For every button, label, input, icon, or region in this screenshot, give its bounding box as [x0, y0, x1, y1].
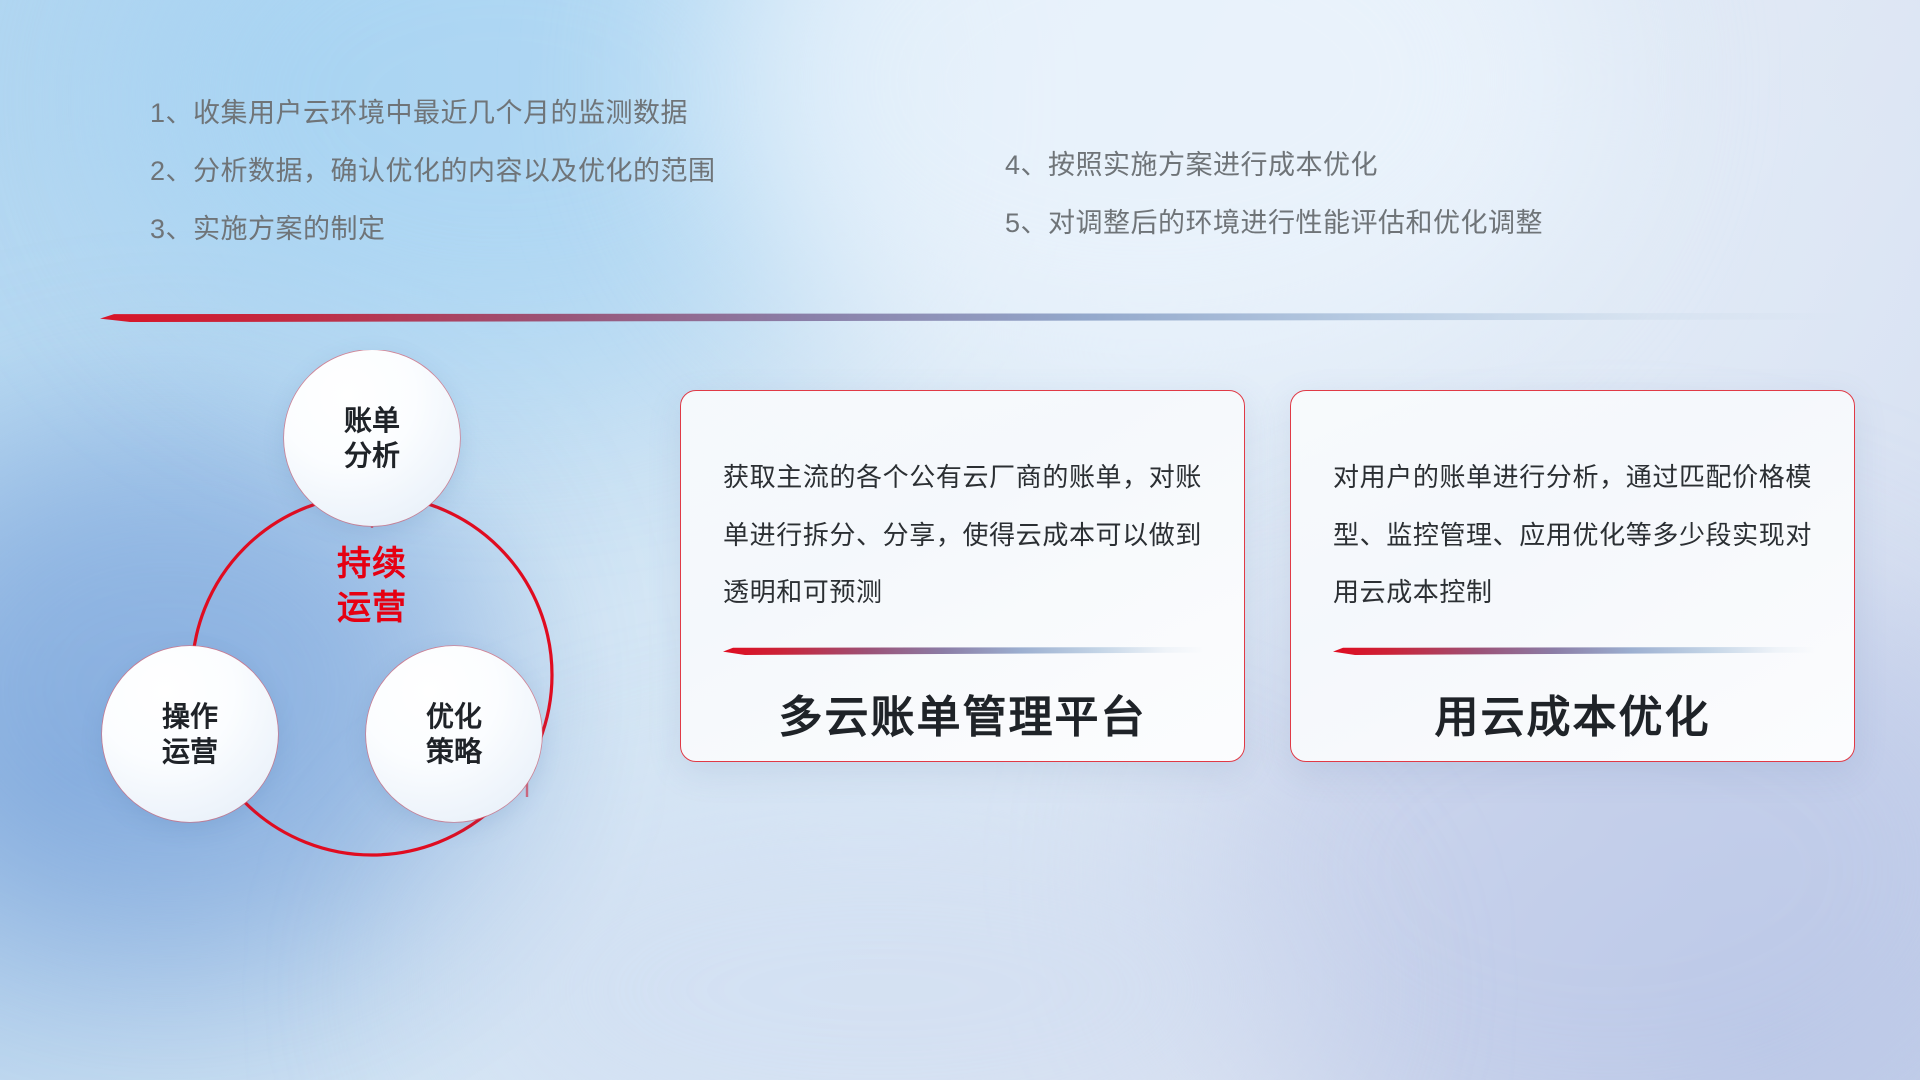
venn-bubble-top-line-1: 账单 [344, 403, 400, 438]
section-divider [100, 313, 1860, 322]
process-step-5: 5、对调整后的环境进行性能评估和优化调整 [1005, 210, 1543, 237]
process-step-4: 4、按照实施方案进行成本优化 [1005, 152, 1543, 179]
section-divider-bar [100, 313, 1860, 322]
venn-bubble-billing-analysis[interactable]: 账单 分析 [284, 350, 460, 526]
venn-bubble-optimization-strategy[interactable]: 优化 策略 [366, 646, 542, 822]
process-step-2: 2、分析数据，确认优化的内容以及优化的范围 [150, 158, 716, 185]
feature-card-2-rule [1333, 647, 1814, 655]
venn-bubble-left-line-2: 运营 [162, 734, 218, 769]
feature-card-2-rule-bar [1333, 647, 1814, 655]
feature-card-1-rule [723, 647, 1204, 655]
venn-bubble-right-line-2: 策略 [426, 734, 482, 769]
venn-center-label: 持续 运营 [260, 542, 484, 630]
feature-card-2-title: 用云成本优化 [1291, 681, 1854, 745]
venn-center-line-1: 持续 [260, 542, 484, 586]
slide-canvas: 1、收集用户云环境中最近几个月的监测数据 2、分析数据，确认优化的内容以及优化的… [0, 0, 1920, 1080]
feature-card-multicloud-billing[interactable]: 获取主流的各个公有云厂商的账单，对账单进行拆分、分享，使得云成本可以做到透明和可… [680, 390, 1245, 762]
feature-card-cloud-cost-optimization[interactable]: 对用户的账单进行分析，通过匹配价格模型、监控管理、应用优化等多少段实现对用云成本… [1290, 390, 1855, 762]
venn-bubble-left-line-1: 操作 [162, 699, 218, 734]
feature-card-1-title: 多云账单管理平台 [681, 681, 1244, 745]
venn-bubble-top-line-2: 分析 [344, 438, 400, 473]
feature-card-1-body: 获取主流的各个公有云厂商的账单，对账单进行拆分、分享，使得云成本可以做到透明和可… [723, 449, 1202, 622]
venn-center-line-2: 运营 [260, 586, 484, 630]
process-step-3: 3、实施方案的制定 [150, 216, 716, 243]
feature-card-1-rule-bar [723, 647, 1204, 655]
process-steps-right: 4、按照实施方案进行成本优化 5、对调整后的环境进行性能评估和优化调整 [1005, 152, 1543, 237]
venn-bubble-operations[interactable]: 操作 运营 [102, 646, 278, 822]
venn-bubble-right-line-1: 优化 [426, 699, 482, 734]
process-steps-left: 1、收集用户云环境中最近几个月的监测数据 2、分析数据，确认优化的内容以及优化的… [150, 100, 716, 243]
feature-card-2-body: 对用户的账单进行分析，通过匹配价格模型、监控管理、应用优化等多少段实现对用云成本… [1333, 449, 1812, 622]
process-step-1: 1、收集用户云环境中最近几个月的监测数据 [150, 100, 716, 127]
continuous-operations-venn: 账单 分析 操作 运营 优化 策略 持续 运营 [100, 350, 640, 950]
